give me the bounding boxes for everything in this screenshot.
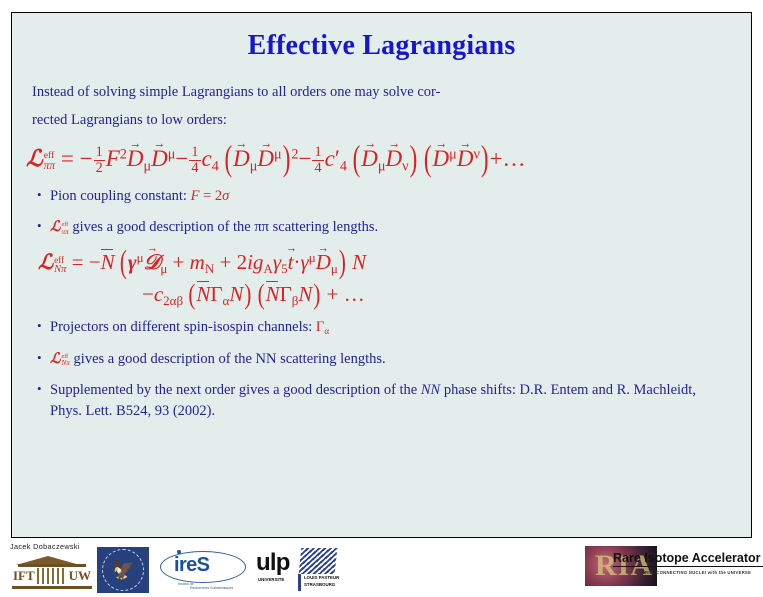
bullet-text-before: Projectors on different spin-isospin cha… [50, 319, 316, 335]
ulp-wordmark: ulp [256, 549, 290, 577]
ria-tagline: RIA: CONNECTING NUCLEI with the UNIVERSE [645, 570, 751, 575]
footer: Jacek Dobaczewski IFT UW 🦅 ireS Institut… [0, 540, 763, 597]
intro-line-2: rected Lagrangians to low orders: [32, 106, 731, 134]
bullet-text-after: gives a good description of the NN scatt… [70, 351, 386, 367]
hatch-pattern [299, 548, 338, 574]
list-item: Projectors on different spin-isospin cha… [50, 317, 731, 338]
seal-ring: 🦅 [102, 549, 144, 591]
bullet-text-before: Pion coupling constant: [50, 188, 191, 204]
ift-uw-letters: IFT UW [13, 567, 91, 585]
uw-label: UW [69, 568, 91, 584]
vertical-bar-shape [298, 574, 301, 591]
author-block: Jacek Dobaczewski IFT UW [10, 542, 94, 591]
ires-logo: ireS Institut de Recherches Subatomiques [160, 547, 246, 593]
equation-pipi: ℒeffππ = −12F2DμDμ−14c4 (DμDμ)2−14c′4 (D… [12, 145, 751, 176]
ires-wordmark: ireS [174, 554, 209, 577]
equation-npi-line-2: −c2αβ (NΓαN) (NΓβN) + … [12, 282, 751, 307]
bullet-text-after: gives a good description of the ππ scatt… [69, 219, 378, 235]
ria-logo: RIA Rare Isotope Accelerator (RIA) RIA: … [585, 546, 753, 588]
ulp-line-3: STRASBOURG [304, 582, 335, 587]
list-item: Supplemented by the next order gives a g… [50, 380, 731, 421]
ires-subtitle-2: Recherches Subatomiques [190, 586, 233, 590]
ria-title: Rare Isotope Accelerator (RIA) [613, 551, 763, 567]
ift-label: IFT [13, 568, 35, 584]
bullet-text-before: Supplemented by the next order gives a g… [50, 382, 421, 398]
author-name: Jacek Dobaczewski [10, 542, 94, 551]
eagle-icon: 🦅 [111, 561, 135, 580]
base-shape [12, 586, 92, 589]
ulp-logo: ulp UNIVERSITE LOUIS PASTEUR STRASBOURG [256, 547, 348, 593]
list-item: ℒeffππ gives a good description of the π… [50, 217, 731, 238]
ift-uw-logo: IFT UW [10, 553, 94, 591]
bullet-list-pipi: Pion coupling constant: F = 2σ ℒeffππ gi… [12, 186, 751, 238]
page-title: Effective Lagrangians [12, 30, 751, 62]
list-item: Pion coupling constant: F = 2σ [50, 186, 731, 207]
columns-shape [37, 568, 67, 584]
slide-panel: Effective Lagrangians Instead of solving… [11, 12, 752, 538]
intro-paragraph: Instead of solving simple Lagrangians to… [32, 78, 731, 135]
bullet-list-npi: Projectors on different spin-isospin cha… [12, 317, 751, 421]
uw-seal-logo: 🦅 [97, 547, 149, 593]
ulp-line-1: UNIVERSITE [258, 577, 284, 582]
ulp-line-2: LOUIS PASTEUR [304, 575, 339, 580]
equation-npi-line-1: ℒeffNπ = −N (γμ𝒟μ + mN + 2igAγ5t·γμDμ) N [12, 250, 751, 276]
list-item: ℒeffNπ gives a good description of the N… [50, 349, 731, 370]
intro-line-1: Instead of solving simple Lagrangians to… [32, 78, 731, 106]
